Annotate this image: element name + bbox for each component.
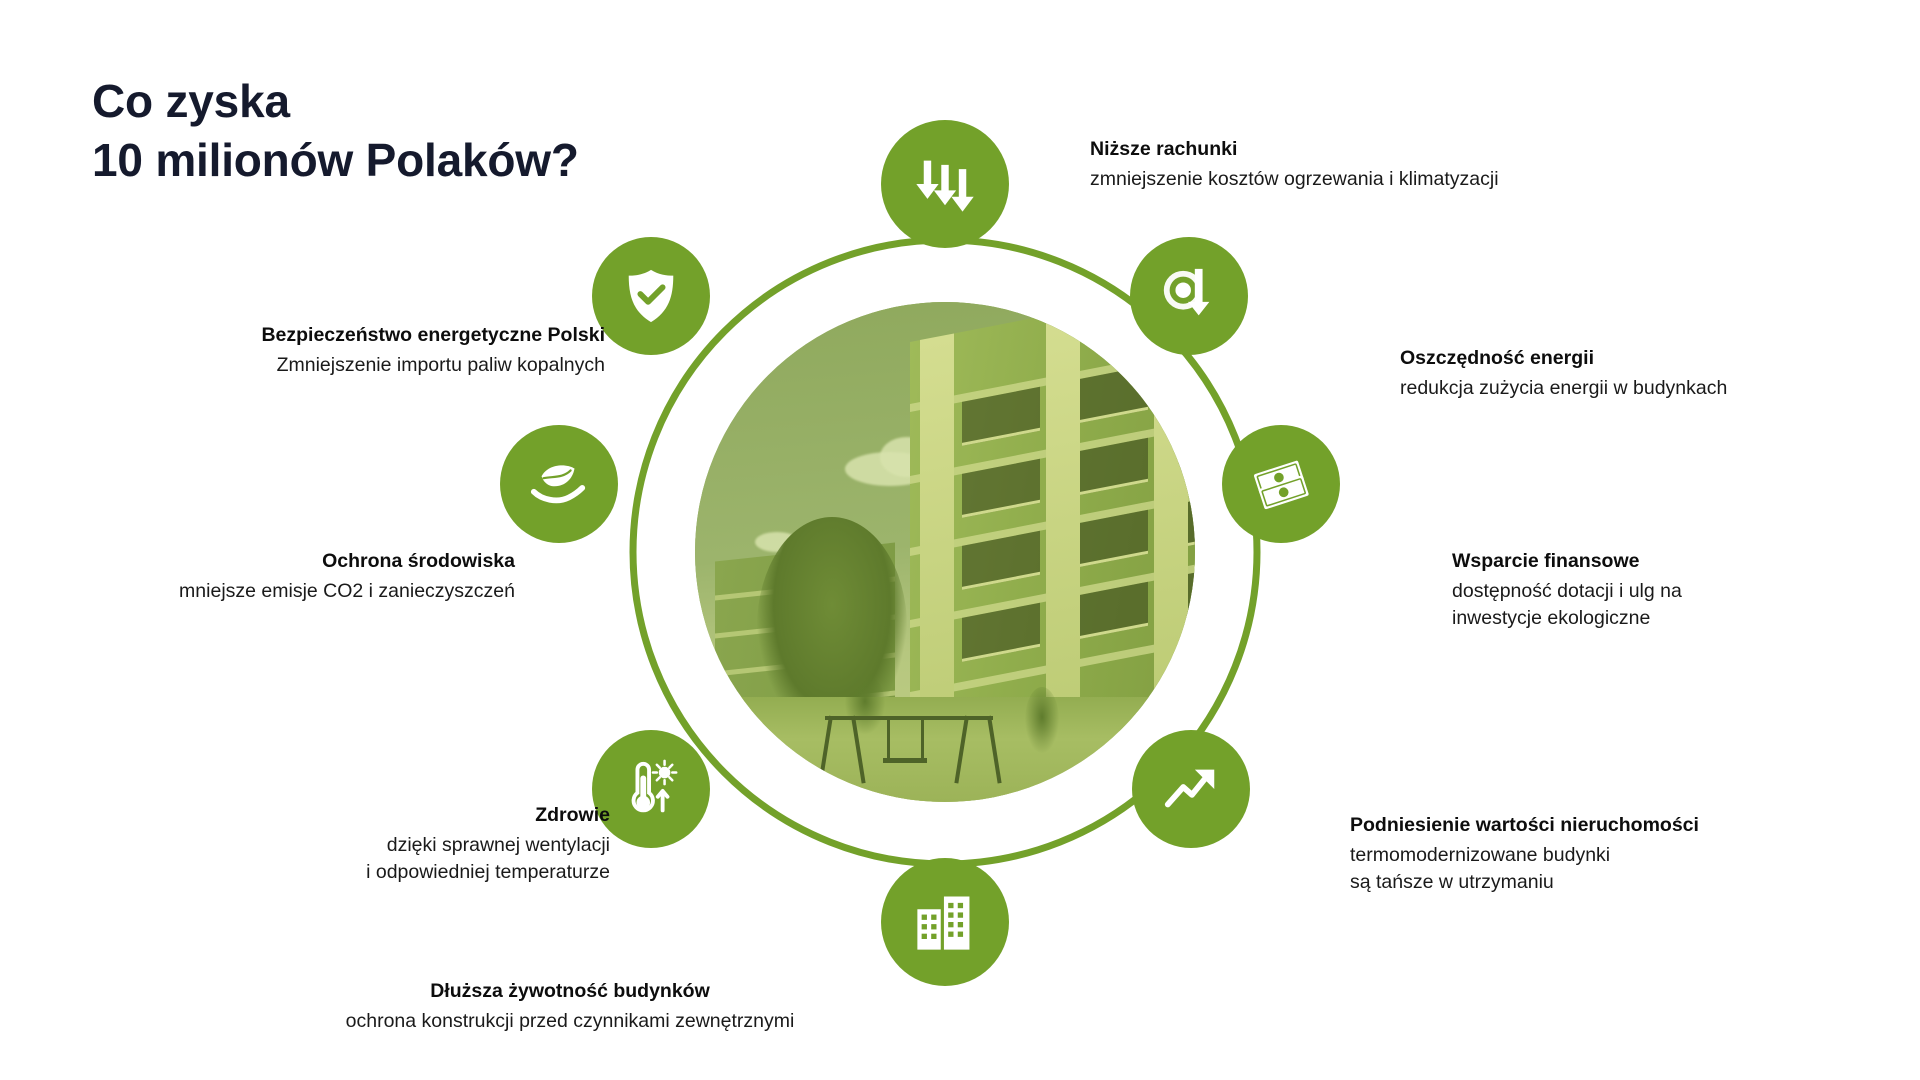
node-ochrona-srodowiska[interactable]: [500, 425, 618, 543]
node-bezpieczenstwo-energetyczne[interactable]: [592, 237, 710, 355]
down-arrows-icon: [911, 150, 979, 218]
label-wsparcie-finansowe: Wsparcie finansowe dostępność dotacji i …: [1452, 548, 1892, 633]
banknotes-icon: [1250, 453, 1312, 515]
benefit-title: Niższe rachunki: [1090, 136, 1690, 164]
buildings-icon: [911, 888, 979, 956]
leaf-hand-icon: [528, 453, 590, 515]
node-nizsze-rachunki[interactable]: [881, 120, 1009, 248]
label-podniesienie-wartosci: Podniesienie wartości nieruchomości term…: [1350, 812, 1910, 897]
label-bezpieczenstwo-energetyczne: Bezpieczeństwo energetyczne Polski Zmnie…: [100, 322, 605, 379]
benefit-title: Podniesienie wartości nieruchomości: [1350, 812, 1910, 840]
shield-check-icon: [620, 265, 682, 327]
label-ochrona-srodowiska: Ochrona środowiska mniejsze emisje CO2 i…: [60, 548, 515, 605]
benefit-desc: ochrona konstrukcji przed czynnikami zew…: [240, 1008, 900, 1036]
node-podniesienie-wartosci[interactable]: [1132, 730, 1250, 848]
thermometer-sun-icon: [620, 758, 682, 820]
energy-gauge-down-icon: [1158, 265, 1220, 327]
benefit-desc: dzięki sprawnej wentylacji i odpowiednie…: [230, 832, 610, 887]
benefit-desc: termomodernizowane budynki są tańsze w u…: [1350, 842, 1910, 897]
infographic-canvas: Co zyska 10 milionów Polaków?: [0, 0, 1920, 1080]
benefit-title: Zdrowie: [230, 802, 610, 830]
benefits-wheel: [570, 120, 1360, 960]
benefit-desc: zmniejszenie kosztów ogrzewania i klimat…: [1090, 166, 1690, 194]
label-dluzsza-zywotnosc: Dłuższa żywotność budynków ochrona konst…: [240, 978, 900, 1035]
benefit-desc: mniejsze emisje CO2 i zanieczyszczeń: [60, 578, 515, 606]
benefit-title: Dłuższa żywotność budynków: [240, 978, 900, 1006]
node-wsparcie-finansowe[interactable]: [1222, 425, 1340, 543]
photo-playground-swing: [825, 702, 995, 784]
node-dluzsza-zywotnosc[interactable]: [881, 858, 1009, 986]
label-zdrowie: Zdrowie dzięki sprawnej wentylacji i odp…: [230, 802, 610, 887]
benefit-desc: Zmniejszenie importu paliw kopalnych: [100, 352, 605, 380]
benefit-title: Wsparcie finansowe: [1452, 548, 1892, 576]
label-oszczednosc-energii: Oszczędność energii redukcja zużycia ene…: [1400, 345, 1920, 402]
benefit-title: Oszczędność energii: [1400, 345, 1920, 373]
node-oszczednosc-energii[interactable]: [1130, 237, 1248, 355]
benefit-title: Bezpieczeństwo energetyczne Polski: [100, 322, 605, 350]
growth-arrow-icon: [1160, 758, 1222, 820]
benefit-title: Ochrona środowiska: [60, 548, 515, 576]
photo-bush: [1025, 687, 1059, 753]
label-nizsze-rachunki: Niższe rachunki zmniejszenie kosztów ogr…: [1090, 136, 1690, 193]
benefit-desc: redukcja zużycia energii w budynkach: [1400, 375, 1920, 403]
page-title: Co zyska 10 milionów Polaków?: [92, 72, 579, 190]
benefit-desc: dostępność dotacji i ulg na inwestycje e…: [1452, 578, 1892, 633]
center-photo: [695, 302, 1195, 802]
